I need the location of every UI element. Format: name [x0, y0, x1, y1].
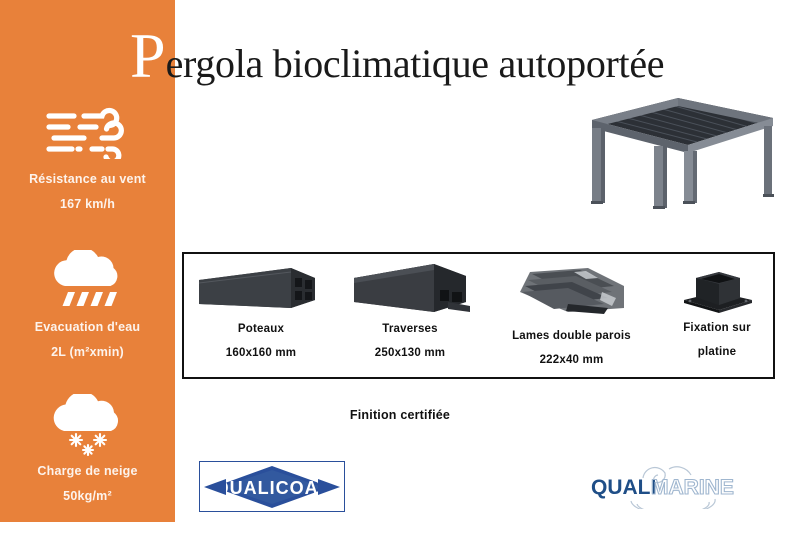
qualimarine-logo: QUALI MARINE [585, 463, 740, 509]
pergola-photo [560, 88, 775, 210]
rain-cloud-icon [0, 248, 175, 314]
wind-icon [0, 100, 175, 166]
component-name: Lames double parois [484, 330, 659, 342]
certification-heading: Finition certifiée [0, 408, 800, 422]
component-name: Fixation sur [659, 322, 775, 334]
component-dimension: platine [659, 346, 775, 358]
spec-label: Evacuation d'eau [0, 320, 175, 334]
components-box: Poteaux 160x160 mm Traverses 25 [182, 252, 775, 379]
component-dimension: 222x40 mm [484, 354, 659, 366]
qualicoat-logo-text: QUALICOAT [215, 478, 330, 498]
spec-value: 50kg/m² [0, 489, 175, 503]
post-profile-photo [186, 254, 336, 316]
page-title-text: ergola bioclimatique autoportée [166, 40, 665, 88]
base-plate-photo [659, 254, 775, 316]
component-name: Traverses [336, 323, 484, 335]
spec-value: 167 km/h [0, 197, 175, 211]
datasheet-page: Résistance au vent 167 km/h Evacuation d… [0, 0, 800, 534]
snow-cloud-icon [0, 392, 175, 458]
component-item: Fixation sur platine [659, 254, 775, 377]
spec-label: Charge de neige [0, 464, 175, 478]
page-title: P ergola bioclimatique autoportée [130, 24, 664, 94]
component-dimension: 250x130 mm [336, 347, 484, 359]
qualicoat-logo: QUALICOAT [199, 461, 345, 512]
beam-profile-photo [336, 254, 484, 316]
louvre-blades-photo [484, 254, 659, 316]
spec-item-water-drainage: Evacuation d'eau 2L (m²xmin) [0, 248, 175, 359]
component-item: Poteaux 160x160 mm [186, 254, 336, 377]
component-item: Traverses 250x130 mm [336, 254, 484, 377]
component-dimension: 160x160 mm [186, 347, 336, 359]
spec-label: Résistance au vent [0, 172, 175, 186]
page-title-initial: P [130, 24, 165, 88]
component-item: Lames double parois 222x40 mm [484, 254, 659, 377]
qualimarine-logo-bold: QUALI [591, 476, 656, 499]
component-name: Poteaux [186, 323, 336, 335]
qualimarine-logo-light: MARINE [651, 476, 734, 499]
spec-value: 2L (m²xmin) [0, 345, 175, 359]
spec-item-wind: Résistance au vent 167 km/h [0, 100, 175, 211]
